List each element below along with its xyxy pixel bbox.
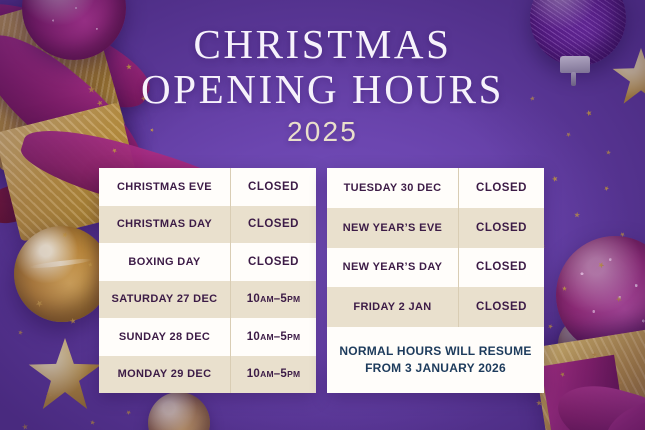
day-label: BOXING DAY (99, 243, 230, 281)
gold-star-confetti (35, 299, 45, 309)
gold-star-confetti (573, 211, 581, 219)
burgundy-fabric-decoration (0, 178, 44, 231)
hours-value: CLOSED (230, 243, 316, 281)
gold-star-confetti (560, 372, 566, 378)
gold-star-confetti (45, 391, 53, 399)
gold-star-confetti (562, 286, 567, 291)
table-row: NEW YEAR’S EVECLOSED (327, 208, 544, 248)
gold-star-confetti (597, 261, 605, 269)
gold-star-confetti (17, 329, 23, 335)
table-row: CHRISTMAS DAYCLOSED (99, 206, 316, 244)
day-label: NEW YEAR’S DAY (327, 248, 458, 288)
opening-hours-tables: CHRISTMAS EVECLOSEDCHRISTMAS DAYCLOSEDBO… (99, 168, 544, 393)
gold-star-confetti (88, 262, 94, 268)
day-label: FRIDAY 2 JAN (327, 287, 458, 327)
clear-gold-flake-bauble-right (558, 318, 610, 370)
gold-star-confetti (21, 423, 29, 430)
gold-star-confetti (69, 317, 77, 325)
hours-value: CLOSED (230, 168, 316, 206)
hours-value: CLOSED (458, 208, 544, 248)
resume-note-line-2: FROM 3 JANUARY 2026 (365, 360, 506, 377)
title-line-1: CHRISTMAS (0, 22, 645, 67)
christmas-opening-hours-poster: CHRISTMAS OPENING HOURS 2025 CHRISTMAS E… (0, 0, 645, 430)
gold-star-confetti (615, 295, 623, 303)
hours-value: CLOSED (458, 287, 544, 327)
gold-star-confetti (591, 351, 599, 359)
title-year: 2025 (0, 115, 645, 149)
magenta-ribbon-bow-loop (550, 375, 645, 430)
table-row: TUESDAY 30 DECCLOSED (327, 168, 544, 208)
table-row: FRIDAY 2 JANCLOSED (327, 287, 544, 327)
gold-star-confetti (619, 231, 625, 237)
table-row: SUNDAY 28 DEC10AM–5PM (99, 318, 316, 356)
hours-value: CLOSED (458, 248, 544, 288)
gold-star-confetti (89, 419, 96, 426)
gold-star-confetti (535, 399, 542, 406)
gold-bauble-left (14, 226, 110, 322)
resume-note-prefix: FROM (365, 361, 405, 375)
pink-glitter-bauble-bottom-right (556, 236, 645, 354)
gold-gift-box-bottom-right (532, 326, 645, 430)
gold-star-confetti (617, 379, 624, 386)
gold-star-confetti (606, 150, 612, 156)
gold-star-confetti (61, 231, 69, 239)
day-label: CHRISTMAS DAY (99, 206, 230, 244)
poster-title-block: CHRISTMAS OPENING HOURS 2025 (0, 22, 645, 149)
table-row: CHRISTMAS EVECLOSED (99, 168, 316, 206)
table-row: NEW YEAR’S DAYCLOSED (327, 248, 544, 288)
hours-value: 10AM–5PM (230, 281, 316, 319)
opening-hours-table-left: CHRISTMAS EVECLOSEDCHRISTMAS DAYCLOSEDBO… (99, 168, 316, 393)
title-line-2: OPENING HOURS (0, 67, 645, 112)
day-label: CHRISTMAS EVE (99, 168, 230, 206)
table-row: SATURDAY 27 DEC10AM–5PM (99, 281, 316, 319)
day-label: TUESDAY 30 DEC (327, 168, 458, 208)
gold-star-confetti (125, 409, 131, 415)
opening-hours-table-right: TUESDAY 30 DECCLOSEDNEW YEAR’S EVECLOSED… (327, 168, 544, 393)
hours-value: 10AM–5PM (230, 318, 316, 356)
magenta-ribbon-bow-loop-2 (597, 389, 645, 430)
resume-note: NORMAL HOURS WILL RESUME FROM 3 JANUARY … (327, 327, 544, 393)
clear-gold-flake-bauble-bottom-left (148, 392, 210, 430)
day-label: NEW YEAR’S EVE (327, 208, 458, 248)
resume-note-line-1: NORMAL HOURS WILL RESUME (339, 343, 531, 360)
day-label: MONDAY 29 DEC (99, 356, 230, 394)
hours-value: 10AM–5PM (230, 356, 316, 394)
resume-note-date: 3 JANUARY 2026 (405, 361, 506, 375)
hours-value: CLOSED (230, 206, 316, 244)
gold-star-confetti (551, 175, 559, 183)
day-label: SUNDAY 28 DEC (99, 318, 230, 356)
day-label: SATURDAY 27 DEC (99, 281, 230, 319)
gold-glitter-star-ornament (28, 338, 102, 412)
gold-star-confetti (604, 186, 610, 192)
hours-value: CLOSED (458, 168, 544, 208)
gold-star-confetti (548, 324, 553, 329)
table-row: BOXING DAYCLOSED (99, 243, 316, 281)
table-row: MONDAY 29 DEC10AM–5PM (99, 356, 316, 394)
magenta-ribbon-bottom-right (541, 355, 629, 430)
